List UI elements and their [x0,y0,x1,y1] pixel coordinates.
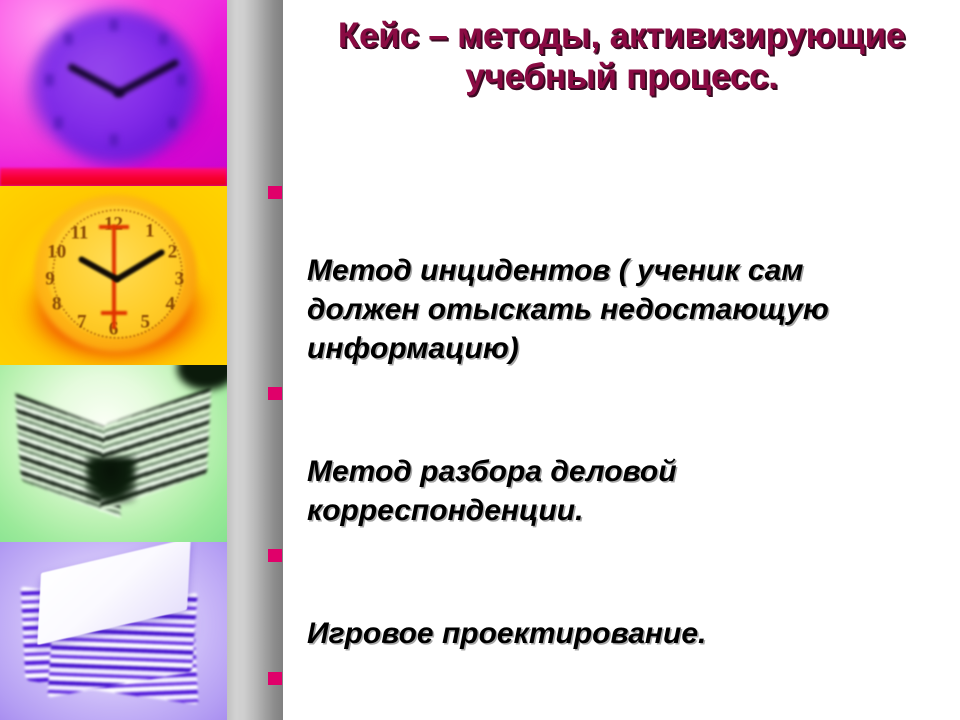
square-bullet-icon [268,387,282,400]
bullet-item: Метод инцидентов ( ученик сам должен оты… [267,173,960,368]
photo-color-band [0,168,227,186]
slide-title: Кейс – методы, активизирующие учебный пр… [283,16,960,98]
image-clock-purple [0,0,227,186]
bullet-list: Метод инцидентов ( ученик сам должен оты… [267,173,960,720]
image-paper-stack [0,542,227,720]
bullet-text: Игровое проектирование. [307,617,706,650]
clock-numeral: 7 [77,313,87,332]
bullet-item: Метод разбора деловой корреспонденции. [267,374,960,530]
clock-tick [159,33,168,45]
clock-numeral: 4 [166,295,176,314]
clock-tick [109,19,118,31]
bullet-item: Игровое проектирование. [267,536,960,653]
presentation-slide: 12 1 2 3 4 5 6 7 8 9 10 11 [0,0,960,720]
clock-tick [168,117,177,129]
bullet-text: Метод разбора деловой корреспонденции. [307,455,677,527]
image-clock-yellow: 12 1 2 3 4 5 6 7 8 9 10 11 [0,186,227,365]
square-bullet-icon [268,549,282,562]
clock-tick [54,117,63,129]
square-bullet-icon [268,186,282,199]
clock-numeral: 3 [175,270,185,289]
clock-numeral: 2 [168,243,178,262]
clock-numeral: 9 [45,270,55,289]
clock-tick [64,33,73,45]
clock-numeral: 1 [145,221,155,240]
clock-numeral: 10 [47,243,66,262]
bullet-text: Метод инцидентов ( ученик сам должен оты… [307,254,829,365]
bullet-item: Ситуационно-ролевая игра. [267,659,960,720]
clock-tick [45,74,54,86]
clock-second-hand-tail [101,311,127,315]
clock-numeral: 8 [52,295,62,314]
clock-numeral: 11 [70,223,88,242]
clock-tick [109,134,118,146]
image-strip: 12 1 2 3 4 5 6 7 8 9 10 11 [0,0,227,720]
clock-tick [177,74,186,86]
book-spine [86,457,136,503]
clock-numeral: 5 [141,313,151,332]
image-open-book [0,365,227,542]
square-bullet-icon [268,672,282,685]
slide-content: Кейс – методы, активизирующие учебный пр… [283,0,960,720]
